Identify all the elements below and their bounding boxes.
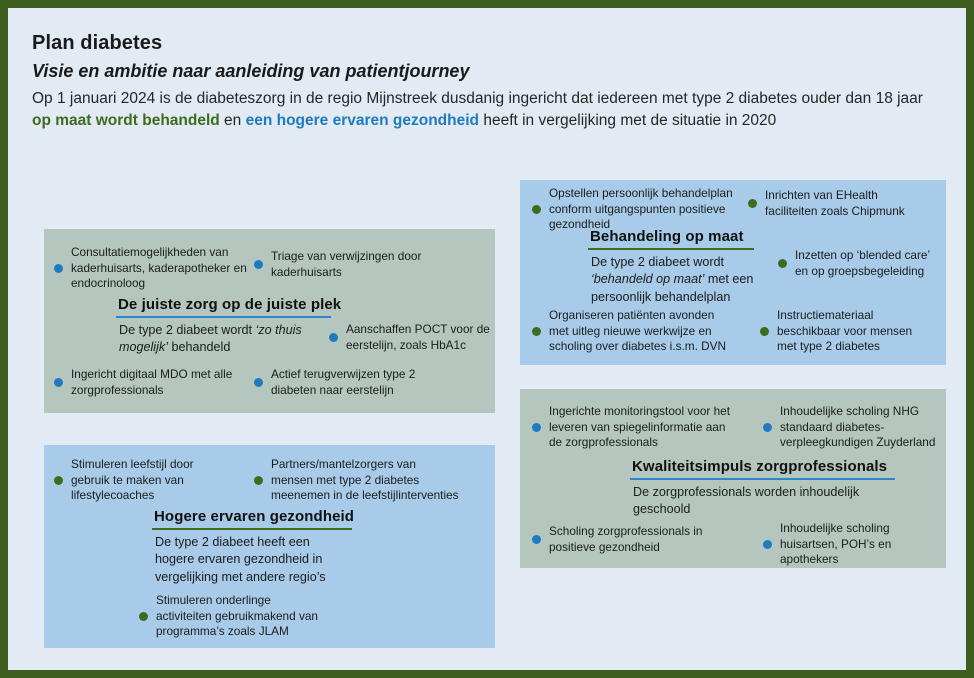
list-item: Opstellen persoonlijk behandelplan confo… (532, 186, 737, 233)
list-item: Ingerichte monitoringstool voor het leve… (532, 404, 732, 451)
list-item-label: Aanschaffen POCT voor de eerstelijn, zoa… (346, 322, 491, 353)
goal-desc-pre: De zorgprofessionals worden inhoudelijk … (633, 485, 859, 516)
list-item: Organiseren patiënten avonden met uitleg… (532, 308, 737, 355)
goal-desc-pre: De type 2 diabeet wordt (119, 323, 256, 337)
goal-desc-pre: De type 2 diabeet wordt (591, 255, 724, 269)
bullet-icon (763, 540, 772, 549)
heading-underline (630, 478, 895, 480)
list-item: Stimuleren onderlinge activiteiten gebru… (139, 593, 329, 640)
header-paragraph: Op 1 januari 2024 is de diabeteszorg in … (32, 88, 942, 132)
bullet-icon (532, 535, 541, 544)
list-item-label: Organiseren patiënten avonden met uitleg… (549, 308, 737, 355)
page-subtitle: Visie en ambitie naar aanleiding van pat… (32, 59, 942, 83)
list-item: Actief terugverwijzen type 2 diabeten na… (254, 367, 444, 398)
bullet-icon (54, 264, 63, 273)
list-item: Triage van verwijzingen door kaderhuisar… (254, 249, 444, 280)
list-item-label: Inrichten van EHealth faciliteiten zoals… (765, 188, 923, 219)
goal-description: De type 2 diabeet heeft een hogere ervar… (152, 534, 352, 586)
bullet-icon (778, 259, 787, 268)
list-item-label: Ingericht digitaal MDO met alle zorgprof… (71, 367, 244, 398)
list-item: Inhoudelijke scholing huisartsen, POH’s … (763, 521, 933, 568)
header: Plan diabetes Visie en ambitie naar aanl… (32, 30, 942, 132)
list-item: Inzetten op ‘blended care’ en op groepsb… (778, 248, 938, 279)
bullet-icon (139, 612, 148, 621)
heading-underline (588, 248, 754, 250)
bullet-icon (254, 378, 263, 387)
list-item: Instructiemateriaal beschikbaar voor men… (760, 308, 930, 355)
goal-block-behandeling-op-maat: Behandeling op maat De type 2 diabeet wo… (588, 228, 754, 306)
bullet-icon (532, 327, 541, 336)
goal-heading: Kwaliteitsimpuls zorgprofessionals (630, 458, 895, 477)
list-item: Ingericht digitaal MDO met alle zorgprof… (54, 367, 244, 398)
list-item-label: Triage van verwijzingen door kaderhuisar… (271, 249, 444, 280)
page-title: Plan diabetes (32, 30, 942, 56)
box-kwaliteitsimpuls-zorgprofessionals: Ingerichte monitoringstool voor het leve… (520, 389, 946, 568)
slide-canvas: Plan diabetes Visie en ambitie naar aanl… (8, 8, 966, 670)
list-item-label: Inhoudelijke scholing NHG standaard diab… (780, 404, 943, 451)
bullet-icon (532, 423, 541, 432)
goal-desc-pre: De type 2 diabeet heeft een hogere ervar… (155, 535, 326, 584)
bullet-icon (532, 205, 541, 214)
goal-desc-italic: ‘behandeld op maat’ (591, 272, 704, 286)
bullet-icon (254, 260, 263, 269)
list-item-label: Inhoudelijke scholing huisartsen, POH’s … (780, 521, 933, 568)
list-item-label: Consultatiemogelijkheden van kaderhuisar… (71, 245, 259, 292)
header-text-part-2: en (220, 112, 246, 129)
box-behandeling-op-maat: Opstellen persoonlijk behandelplan confo… (520, 180, 946, 365)
heading-underline (116, 316, 331, 318)
header-highlight-blue: een hogere ervaren gezondheid (246, 112, 479, 129)
goal-description: De type 2 diabeet wordt ‘behandeld op ma… (588, 254, 754, 306)
list-item-label: Instructiemateriaal beschikbaar voor men… (777, 308, 930, 355)
list-item-label: Stimuleren onderlinge activiteiten gebru… (156, 593, 329, 640)
list-item: Partners/mantelzorgers van mensen met ty… (254, 457, 459, 504)
bullet-icon (763, 423, 772, 432)
bullet-icon (54, 476, 63, 485)
list-item-label: Opstellen persoonlijk behandelplan confo… (549, 186, 737, 233)
goal-block-de-juiste-zorg: De juiste zorg op de juiste plek De type… (116, 296, 331, 357)
list-item: Inrichten van EHealth faciliteiten zoals… (748, 188, 923, 219)
list-item: Stimuleren leefstijl door gebruik te mak… (54, 457, 229, 504)
goal-block-kwaliteitsimpuls: Kwaliteitsimpuls zorgprofessionals De zo… (630, 458, 895, 519)
goal-description: De type 2 diabeet wordt ‘zo thuis mogeli… (116, 322, 331, 357)
header-text-part-1: Op 1 januari 2024 is de diabeteszorg in … (32, 90, 923, 107)
goal-desc-post: behandeld (168, 340, 230, 354)
list-item-label: Ingerichte monitoringstool voor het leve… (549, 404, 732, 451)
list-item-label: Scholing zorgprofessionals in positieve … (549, 524, 722, 555)
list-item-label: Partners/mantelzorgers van mensen met ty… (271, 457, 459, 504)
header-text-part-3: heeft in vergelijking met de situatie in… (479, 112, 776, 129)
bullet-icon (54, 378, 63, 387)
list-item: Aanschaffen POCT voor de eerstelijn, zoa… (329, 322, 491, 353)
list-item: Inhoudelijke scholing NHG standaard diab… (763, 404, 943, 451)
bullet-icon (760, 327, 769, 336)
list-item: Scholing zorgprofessionals in positieve … (532, 524, 722, 555)
header-highlight-green: op maat wordt behandeld (32, 112, 220, 129)
list-item: Consultatiemogelijkheden van kaderhuisar… (54, 245, 259, 292)
goal-heading: Hogere ervaren gezondheid (152, 508, 352, 527)
goal-heading: Behandeling op maat (588, 228, 754, 247)
box-hogere-ervaren-gezondheid: Stimuleren leefstijl door gebruik te mak… (44, 445, 495, 648)
goal-description: De zorgprofessionals worden inhoudelijk … (630, 484, 895, 519)
box-de-juiste-zorg-op-de-juiste-plek: Consultatiemogelijkheden van kaderhuisar… (44, 229, 495, 413)
list-item-label: Actief terugverwijzen type 2 diabeten na… (271, 367, 444, 398)
list-item-label: Stimuleren leefstijl door gebruik te mak… (71, 457, 229, 504)
goal-block-hogere-ervaren-gezondheid: Hogere ervaren gezondheid De type 2 diab… (152, 508, 352, 586)
heading-underline (152, 528, 352, 530)
bullet-icon (748, 199, 757, 208)
list-item-label: Inzetten op ‘blended care’ en op groepsb… (795, 248, 938, 279)
bullet-icon (254, 476, 263, 485)
goal-heading: De juiste zorg op de juiste plek (116, 296, 331, 315)
